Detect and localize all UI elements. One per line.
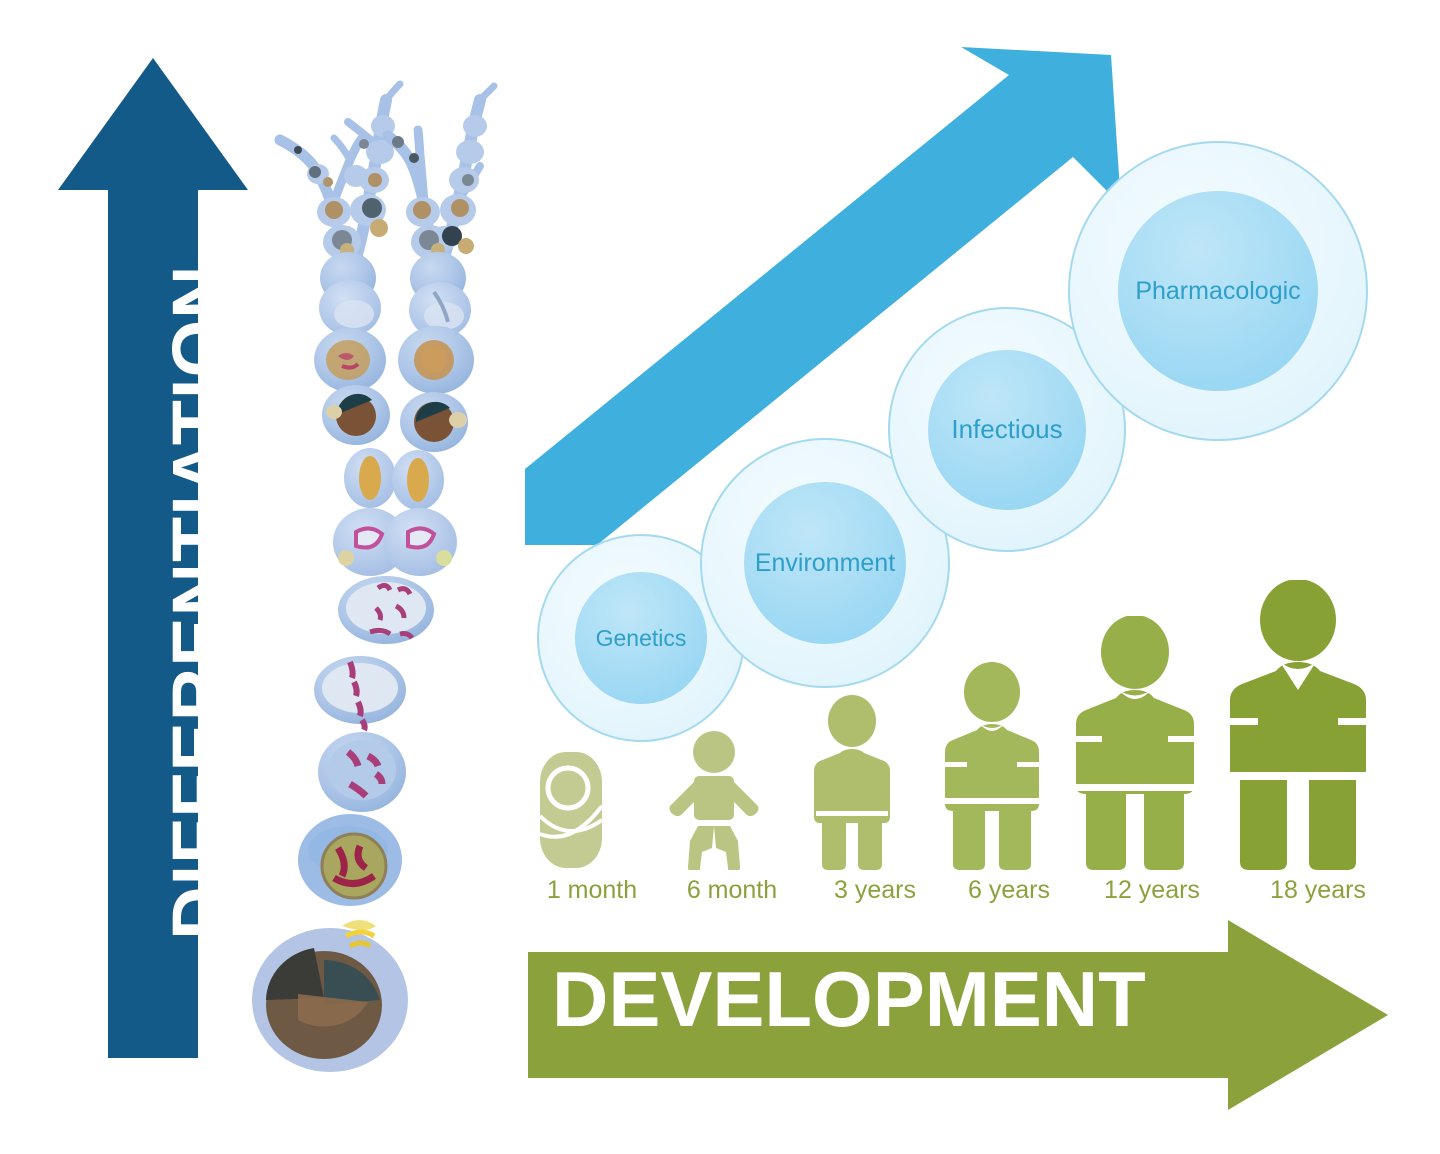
stage-icon-1-month[interactable] — [538, 750, 604, 870]
perturbation-bubble-pharmacologic[interactable]: Pharmacologic — [1068, 141, 1368, 441]
cell-dark-nucleus-left — [322, 385, 390, 445]
age-label-3-years: 3 years — [814, 876, 936, 905]
cell-lineage-illustration — [238, 60, 548, 1080]
cell-spindle-left — [344, 448, 396, 508]
age-label-1-month: 1 month — [528, 876, 656, 905]
stage-icon-12-years[interactable] — [1073, 616, 1197, 870]
stage-icon-6-years[interactable] — [940, 662, 1044, 870]
cell-with-organelles-left — [314, 328, 386, 392]
perturbation-bubble-pharmacologic-label: Pharmacologic — [1135, 277, 1300, 306]
cell-differentiated-right — [398, 326, 474, 394]
cell-mitosis-metaphase — [314, 656, 406, 730]
cell-mitosis-anaphase — [318, 732, 406, 812]
perturbation-bubble-infectious-label: Infectious — [951, 414, 1062, 445]
cell-mitosis-telophase — [338, 576, 434, 644]
cell-committed-progenitor-right — [409, 252, 471, 338]
development-stage-figures — [528, 640, 1396, 870]
bubble-core: Pharmacologic — [1118, 191, 1318, 391]
age-label-18-years: 18 years — [1252, 876, 1384, 905]
bubble-core: Environment — [744, 482, 906, 644]
age-label-6-years: 6 years — [948, 876, 1070, 905]
stage-icon-18-years[interactable] — [1228, 580, 1368, 870]
cell-dark-nucleus-right — [400, 392, 468, 452]
perturbation-bubble-environment-label: Environment — [755, 549, 895, 578]
stage-icon-3-years[interactable] — [810, 695, 894, 870]
age-label-12-years: 12 years — [1086, 876, 1218, 905]
stage-icon-6-month[interactable] — [668, 730, 760, 870]
cell-committed-progenitor-left — [319, 252, 381, 336]
cell-two-cell-stage — [333, 508, 457, 576]
bubble-core: Infectious — [928, 350, 1086, 510]
cell-with-olive-nucleus — [298, 814, 402, 906]
differentiation-axis-arrow — [58, 58, 248, 1058]
cell-spindle-right — [392, 450, 444, 510]
cell-zygote — [252, 920, 408, 1072]
age-label-6-month: 6 month — [668, 876, 796, 905]
development-axis-arrow — [528, 920, 1388, 1110]
diagram-canvas: DIFFERENTIATION PERTURBATIONS Genetics E… — [0, 0, 1440, 1154]
